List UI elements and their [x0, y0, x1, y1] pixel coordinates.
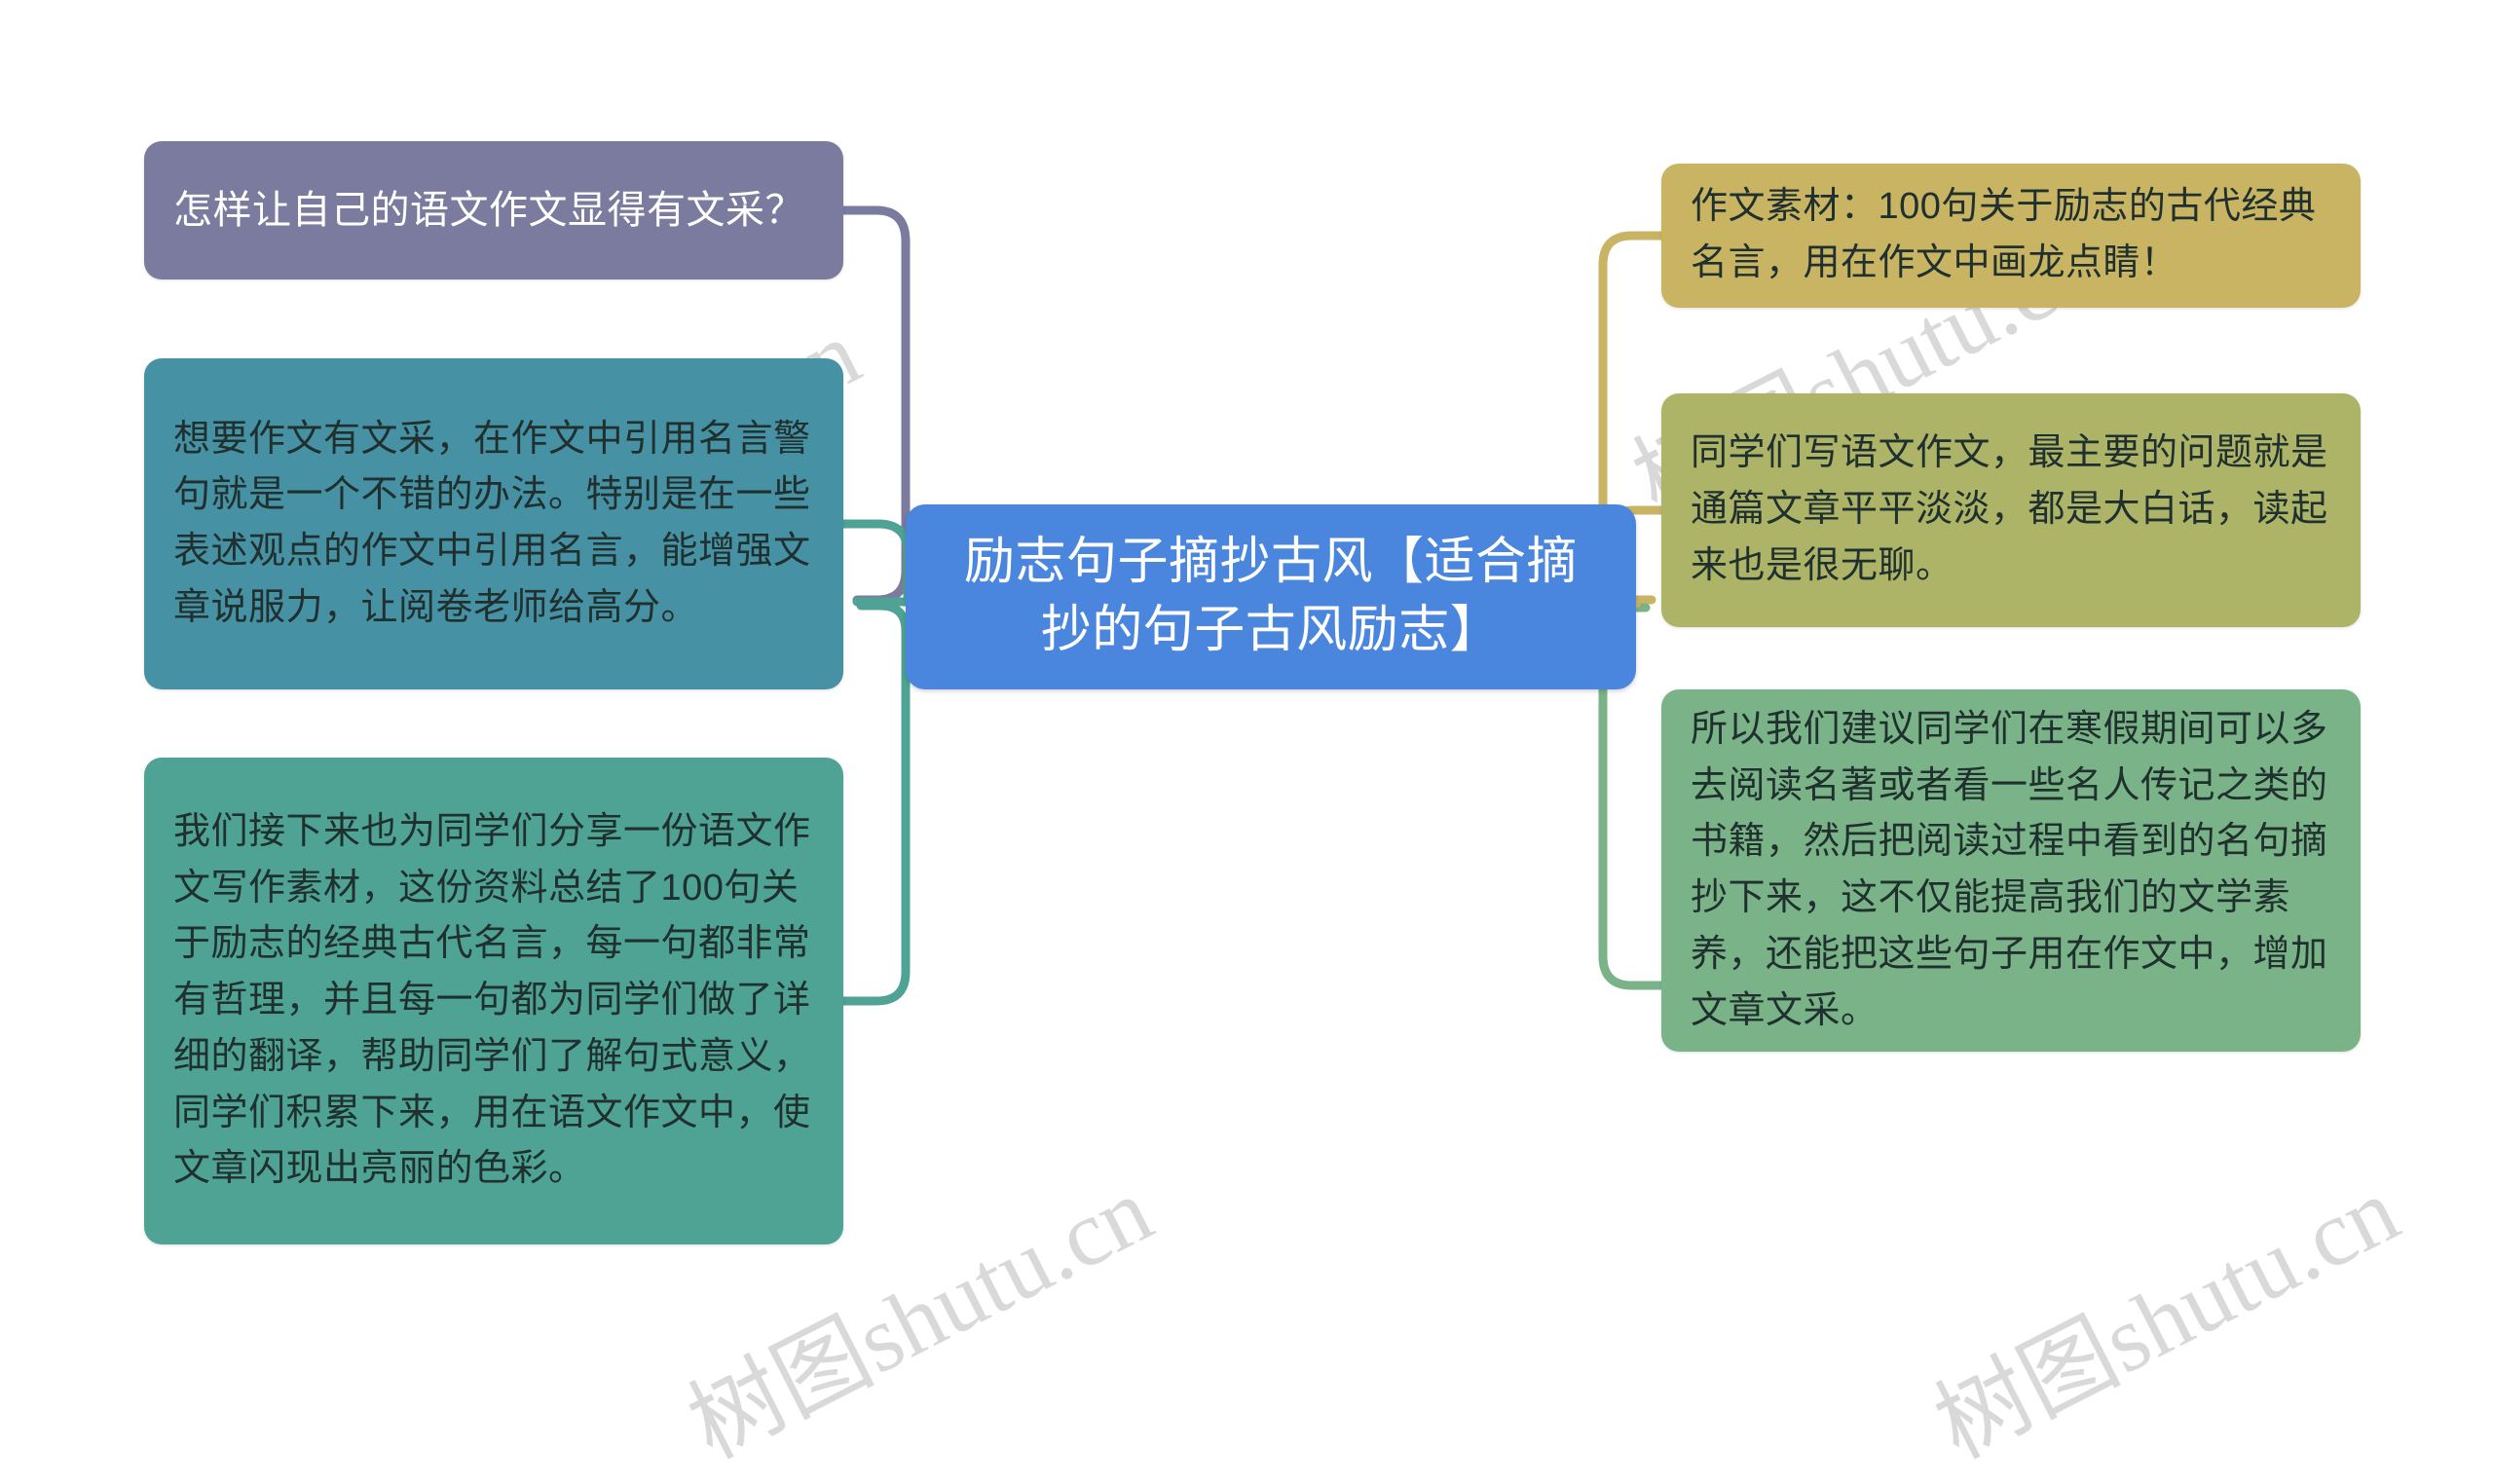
mindmap-node-right-2[interactable]: 同学们写语文作文，最主要的问题就是通篇文章平平淡淡，都是大白话，读起来也是很无聊… [1661, 393, 2361, 627]
connector-left-l1 [843, 210, 906, 600]
mindmap-node-right-3[interactable]: 所以我们建议同学们在寒假期间可以多去阅读名著或者看一些名人传记之类的书籍，然后把… [1661, 689, 2361, 1052]
connector-left-l2 [843, 524, 908, 596]
node-text: 作文素材：100句关于励志的古代经典名言，用在作文中画龙点睛！ [1661, 154, 2361, 317]
mindmap-node-left-3[interactable]: 我们接下来也为同学们分享一份语文作文写作素材，这份资料总结了100句关于励志的经… [144, 758, 843, 1244]
connector-left-l3 [843, 606, 906, 1001]
node-text: 怎样让自己的语文作文显得有文采？ [144, 158, 843, 264]
mindmap-node-left-2[interactable]: 想要作文有文采，在作文中引用名言警句就是一个不错的办法。特别是在一些表述观点的作… [144, 358, 843, 689]
node-text: 所以我们建议同学们在寒假期间可以多去阅读名著或者看一些名人传记之类的书籍，然后把… [1661, 677, 2361, 1065]
mindmap-node-right-1[interactable]: 作文素材：100句关于励志的古代经典名言，用在作文中画龙点睛！ [1661, 164, 2361, 308]
mindmap-node-center[interactable]: 励志句子摘抄古风【适合摘抄的句子古风励志】 [906, 504, 1636, 689]
mindmap-node-left-1[interactable]: 怎样让自己的语文作文显得有文采？ [144, 141, 843, 279]
center-node-text: 励志句子摘抄古风【适合摘抄的句子古风励志】 [906, 511, 1636, 682]
mindmap-canvas: 树图shutu.cn 树图shutu.cn 树图shutu.cn 树图shutu… [0, 0, 2493, 1382]
node-text: 同学们写语文作文，最主要的问题就是通篇文章平平淡淡，都是大白话，读起来也是很无聊… [1661, 400, 2361, 619]
node-text: 我们接下来也为同学们分享一份语文作文写作素材，这份资料总结了100句关于励志的经… [144, 779, 843, 1223]
node-text: 想要作文有文采，在作文中引用名言警句就是一个不错的办法。特别是在一些表述观点的作… [144, 387, 843, 662]
